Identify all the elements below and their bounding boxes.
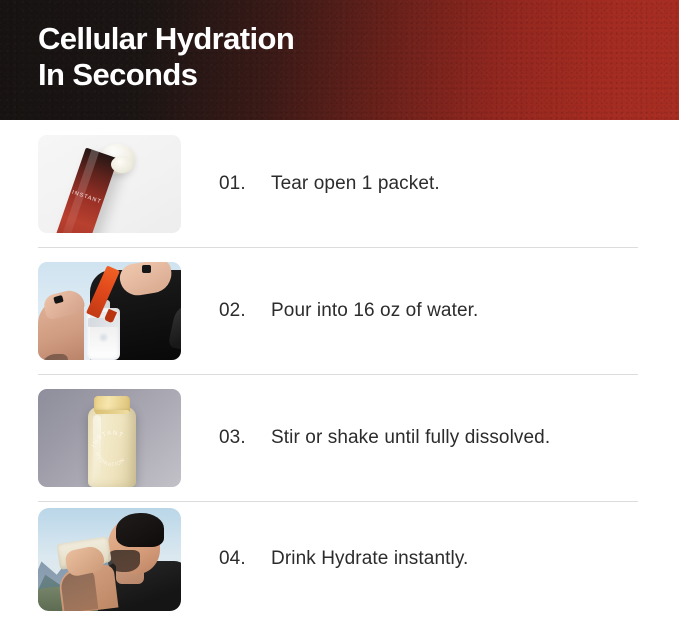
- steps-list: INSTANT 01. Tear open 1 packet.: [0, 120, 679, 617]
- thumbnail-pouring-into-bottle: [38, 262, 181, 360]
- step-number-1: 01.: [219, 173, 271, 195]
- thumbnail-man-drinking: [38, 508, 181, 611]
- header-banner: Cellular Hydration In Seconds: [0, 0, 679, 120]
- page-title: Cellular Hydration In Seconds: [38, 21, 294, 93]
- powder-splash: [98, 332, 109, 343]
- bottle-text-top: INSTANT: [90, 429, 124, 448]
- person-beard: [108, 550, 140, 572]
- svg-text:HYDRATION: HYDRATION: [94, 451, 127, 468]
- step-label-4: Drink Hydrate instantly.: [271, 548, 468, 570]
- step-text-1: 01. Tear open 1 packet.: [219, 173, 440, 195]
- step-label-1: Tear open 1 packet.: [271, 173, 440, 195]
- step-item-2: 02. Pour into 16 oz of water.: [0, 247, 679, 374]
- step-label-3: Stir or shake until fully dissolved.: [271, 427, 550, 449]
- packet-shape: INSTANT: [52, 147, 118, 233]
- person-hair: [116, 513, 164, 547]
- thumbnail-packet-powder: INSTANT: [38, 135, 181, 233]
- step-text-4: 04. Drink Hydrate instantly.: [219, 548, 468, 570]
- step-number-2: 02.: [219, 300, 271, 322]
- page-title-line-2: In Seconds: [38, 57, 294, 93]
- arm-tattoo: [40, 354, 68, 360]
- bottle-circular-label: INSTANT HYDRATION: [88, 425, 136, 473]
- step-number-3: 03.: [219, 427, 271, 449]
- step-text-3: 03. Stir or shake until fully dissolved.: [219, 427, 550, 449]
- step-item-3: INSTANT HYDRATION 03. Stir or shake unti…: [0, 374, 679, 501]
- shirt-fold: [168, 303, 181, 352]
- step-label-2: Pour into 16 oz of water.: [271, 300, 478, 322]
- bottle-text-bottom: HYDRATION: [94, 451, 127, 468]
- step-item-1: INSTANT 01. Tear open 1 packet.: [0, 120, 679, 247]
- svg-text:INSTANT: INSTANT: [90, 429, 124, 448]
- bottle-cap-ring: [95, 410, 129, 414]
- thumbnail-cream-bottle: INSTANT HYDRATION: [38, 389, 181, 487]
- step-text-2: 02. Pour into 16 oz of water.: [219, 300, 478, 322]
- page-title-line-1: Cellular Hydration: [38, 21, 294, 56]
- ring-right-icon: [142, 265, 151, 273]
- step-item-4: 04. Drink Hydrate instantly.: [0, 501, 679, 617]
- step-number-4: 04.: [219, 548, 271, 570]
- powder-pile-secondary: [111, 156, 133, 173]
